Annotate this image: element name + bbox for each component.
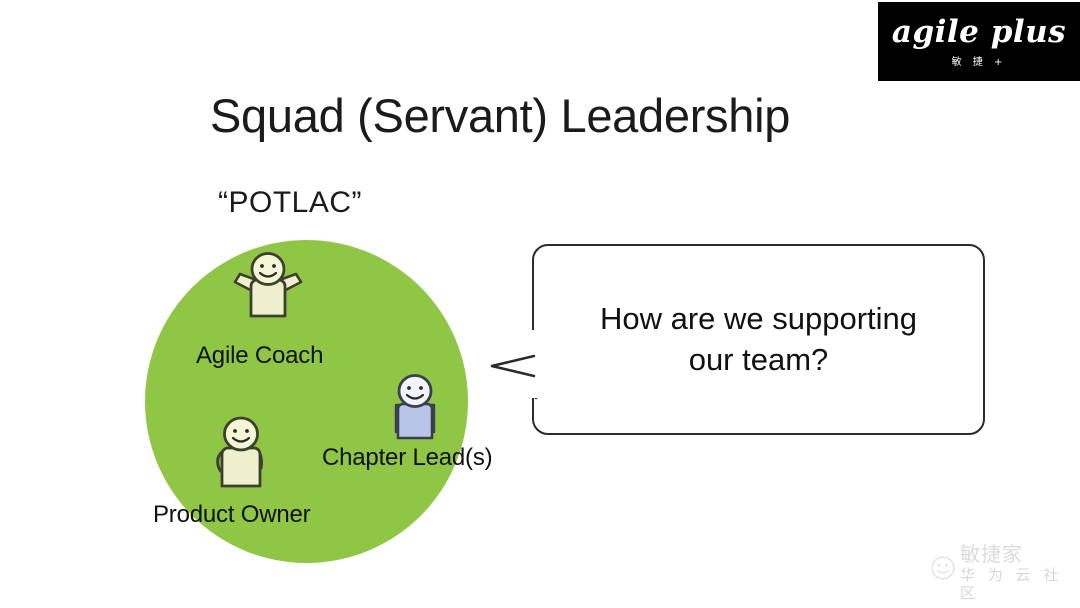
slide-title: Squad (Servant) Leadership (210, 88, 790, 143)
watermark-line-1: 敏捷家 (960, 544, 1080, 565)
role-label-chapter-lead: Chapter Lead(s) (322, 444, 492, 472)
speech-bubble-line-2: our team? (689, 342, 829, 377)
brand-logo-wordmark: agile plus (892, 17, 1066, 48)
smiley-face-icon (930, 555, 956, 586)
person-blue-icon (388, 374, 442, 440)
watermark: 敏捷家 华 为 云 社 区 (930, 540, 1080, 606)
speech-bubble-text: How are we supporting our team? (566, 299, 951, 381)
role-label-agile-coach: Agile Coach (196, 342, 323, 370)
brand-logo: agile plus 敏 捷 + (878, 2, 1080, 81)
person-arms-up-icon (232, 252, 304, 318)
speech-bubble: How are we supporting our team? (532, 244, 985, 435)
role-label-product-owner: Product Owner (153, 501, 310, 529)
brand-logo-chinese-subtitle: 敏 捷 + (952, 58, 1007, 68)
acronym-label: “POTLAC” (218, 186, 362, 220)
speech-bubble-tail-icon (488, 326, 538, 402)
person-hands-on-hips-icon (211, 416, 271, 488)
speech-bubble-line-1: How are we supporting (600, 301, 917, 336)
watermark-line-2: 华 为 云 社 区 (960, 567, 1080, 602)
